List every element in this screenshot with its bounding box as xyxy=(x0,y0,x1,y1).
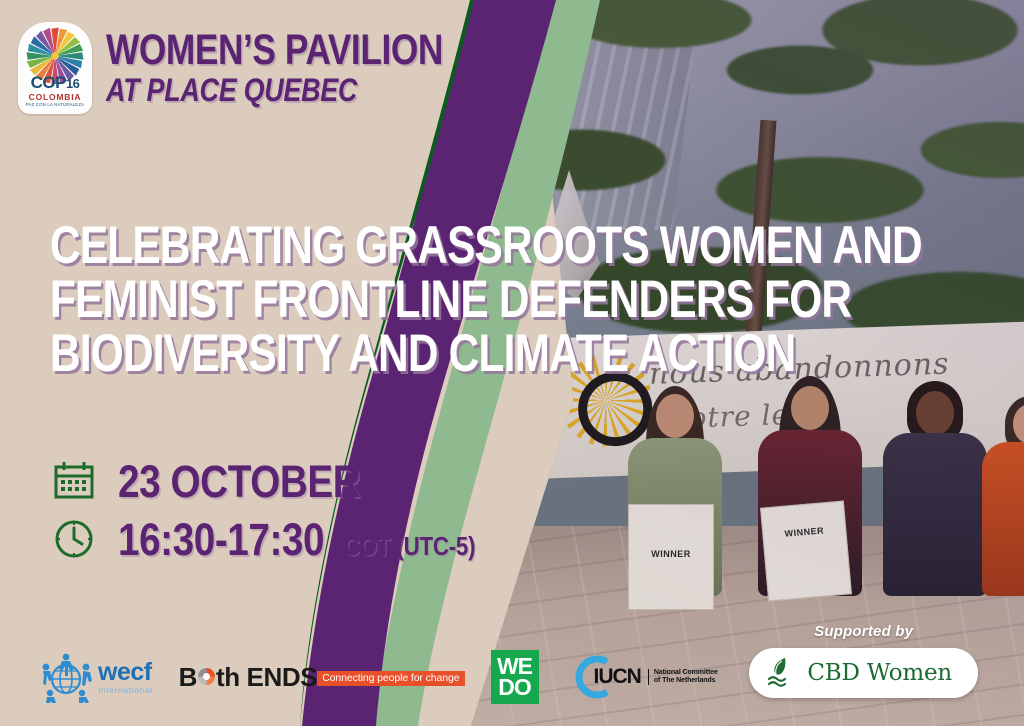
logo-iucn[interactable]: IUCN National Committee of The Netherlan… xyxy=(565,654,718,700)
logo-wedo[interactable]: WE DO xyxy=(491,650,539,704)
headline-line-2: FEMINIST FRONTLINE DEFENDERS FOR xyxy=(50,273,690,327)
poster-header: COP16 COLOMBIA PAZ CON LA NATURALEZA WOM… xyxy=(18,22,517,114)
both-ends-name-before: B xyxy=(179,664,197,690)
header-text-block: WOMEN’S PAVILION AT PLACE QUEBEC xyxy=(106,30,517,106)
wecf-globe-icon xyxy=(38,651,94,703)
wecf-name: wecf xyxy=(98,660,153,685)
supported-by-label: Supported by xyxy=(749,623,978,640)
cop16-logo: COP16 COLOMBIA PAZ CON LA NATURALEZA xyxy=(18,22,92,114)
cop-tagline: PAZ CON LA NATURALEZA xyxy=(18,103,92,107)
time-row: 16:30-17:30 COT (UTC-5) xyxy=(52,510,496,568)
cop-label: COP xyxy=(31,73,66,92)
both-ends-name-after: th ENDS xyxy=(216,664,317,690)
iucn-committee: National Committee of The Netherlands xyxy=(648,669,718,685)
both-ends-circle-icon xyxy=(198,668,215,685)
event-date: 23 OCTOBER xyxy=(118,459,360,504)
page-subtitle: AT PLACE QUEBEC xyxy=(106,74,451,106)
headline-block: CELEBRATING GRASSROOTS WOMEN AND FEMINIS… xyxy=(50,219,850,381)
event-timezone: COT (UTC-5) xyxy=(344,531,475,562)
iucn-committee-line-1: National Committee xyxy=(654,669,718,677)
page-title: WOMEN’S PAVILION xyxy=(106,30,443,71)
partner-logos: wecf International B th ENDS Connecting … xyxy=(38,650,718,704)
event-poster: nous abandonnons notre le WINNER WINNER xyxy=(0,0,1024,726)
cop-number: 16 xyxy=(66,76,79,91)
logo-both-ends[interactable]: B th ENDS Connecting people for change xyxy=(179,664,465,690)
leaf-water-icon xyxy=(767,657,797,689)
iucn-name: IUCN xyxy=(594,665,641,689)
calendar-icon xyxy=(52,459,96,503)
headline-line-1: CELEBRATING GRASSROOTS WOMEN AND xyxy=(50,219,690,273)
logo-cbd-women[interactable]: CBD Women xyxy=(749,648,978,698)
logo-wecf[interactable]: wecf International xyxy=(38,651,153,703)
cop16-logo-text: COP16 COLOMBIA PAZ CON LA NATURALEZA xyxy=(18,74,92,107)
both-ends-wordmark: B th ENDS xyxy=(179,664,318,690)
cbd-women-name: CBD Women xyxy=(807,660,952,686)
wecf-wordmark: wecf International xyxy=(98,660,153,695)
event-details: 23 OCTOBER 16:30-17:30 COT (UTC-5) xyxy=(52,452,496,568)
cop-country: COLOMBIA xyxy=(18,93,92,102)
wecf-sub: International xyxy=(98,686,153,695)
event-time: 16:30-17:30 xyxy=(118,517,324,562)
supported-by-block: Supported by CBD Women xyxy=(749,623,978,698)
iucn-committee-line-2: of The Netherlands xyxy=(654,677,718,685)
both-ends-tagline: Connecting people for change xyxy=(317,671,464,686)
date-row: 23 OCTOBER xyxy=(52,452,496,510)
wedo-line-2: DO xyxy=(498,677,531,698)
clock-icon xyxy=(52,517,96,561)
headline-line-3: BIODIVERSITY AND CLIMATE ACTION xyxy=(50,327,690,381)
